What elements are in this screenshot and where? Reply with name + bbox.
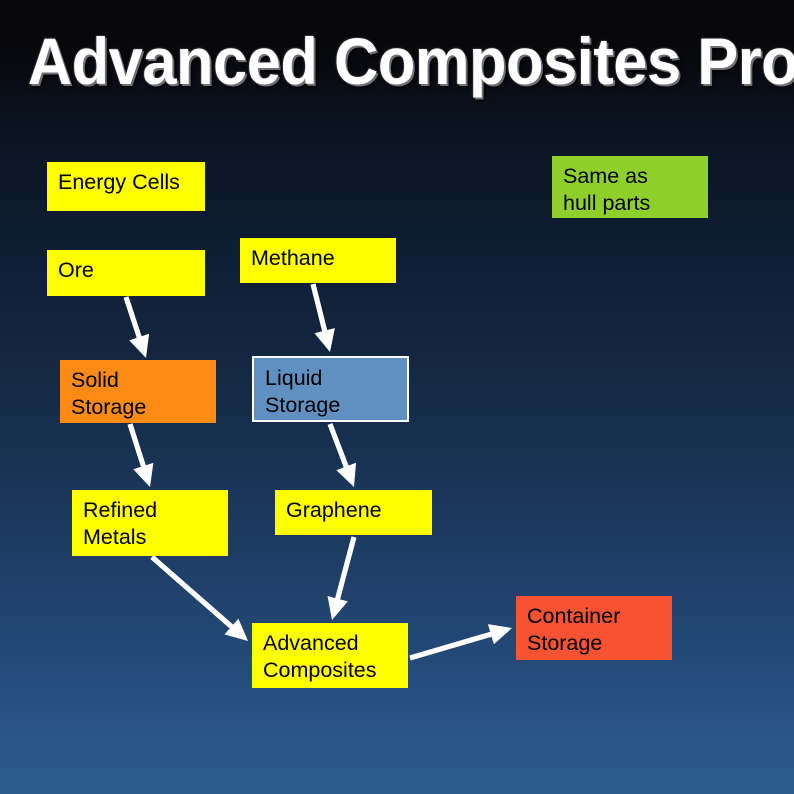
node-label: Advanced Composites	[263, 630, 408, 684]
node-label: Methane	[251, 245, 396, 272]
node-solid-storage[interactable]: Solid Storage	[60, 360, 216, 423]
arrow-refined-metals-to-advanced	[150, 555, 248, 641]
arrow-solid-storage-to-refined-metals	[128, 423, 154, 487]
node-methane[interactable]: Methane	[240, 238, 396, 283]
node-label: Ore	[58, 257, 205, 284]
node-graphene[interactable]: Graphene	[275, 490, 432, 535]
page-title: Advanced Composites Production	[28, 18, 766, 104]
node-label: Container Storage	[527, 603, 672, 657]
arrow-graphene-to-advanced	[328, 536, 357, 620]
diagram-canvas: Advanced Composites Production Energy Ce…	[0, 0, 794, 794]
node-liquid-storage[interactable]: Liquid Storage	[252, 356, 409, 422]
node-label: Refined Metals	[83, 497, 228, 551]
node-label: Solid Storage	[71, 367, 216, 421]
arrow-methane-to-liquid-storage	[311, 283, 335, 352]
arrow-ore-to-solid-storage	[124, 296, 150, 358]
arrow-advanced-to-container-storage	[409, 624, 512, 660]
node-label: Liquid Storage	[265, 365, 407, 419]
node-label: Graphene	[286, 497, 432, 524]
arrow-liquid-storage-to-graphene	[328, 423, 356, 487]
node-container-storage[interactable]: Container Storage	[516, 596, 672, 660]
node-label: Same as hull parts	[563, 163, 708, 217]
node-advanced-composites[interactable]: Advanced Composites	[252, 623, 408, 688]
node-same-as-hull-parts[interactable]: Same as hull parts	[552, 156, 708, 218]
node-ore[interactable]: Ore	[47, 250, 205, 296]
node-label: Energy Cells	[58, 169, 205, 196]
node-refined-metals[interactable]: Refined Metals	[72, 490, 228, 556]
node-energy-cells[interactable]: Energy Cells	[47, 162, 205, 211]
